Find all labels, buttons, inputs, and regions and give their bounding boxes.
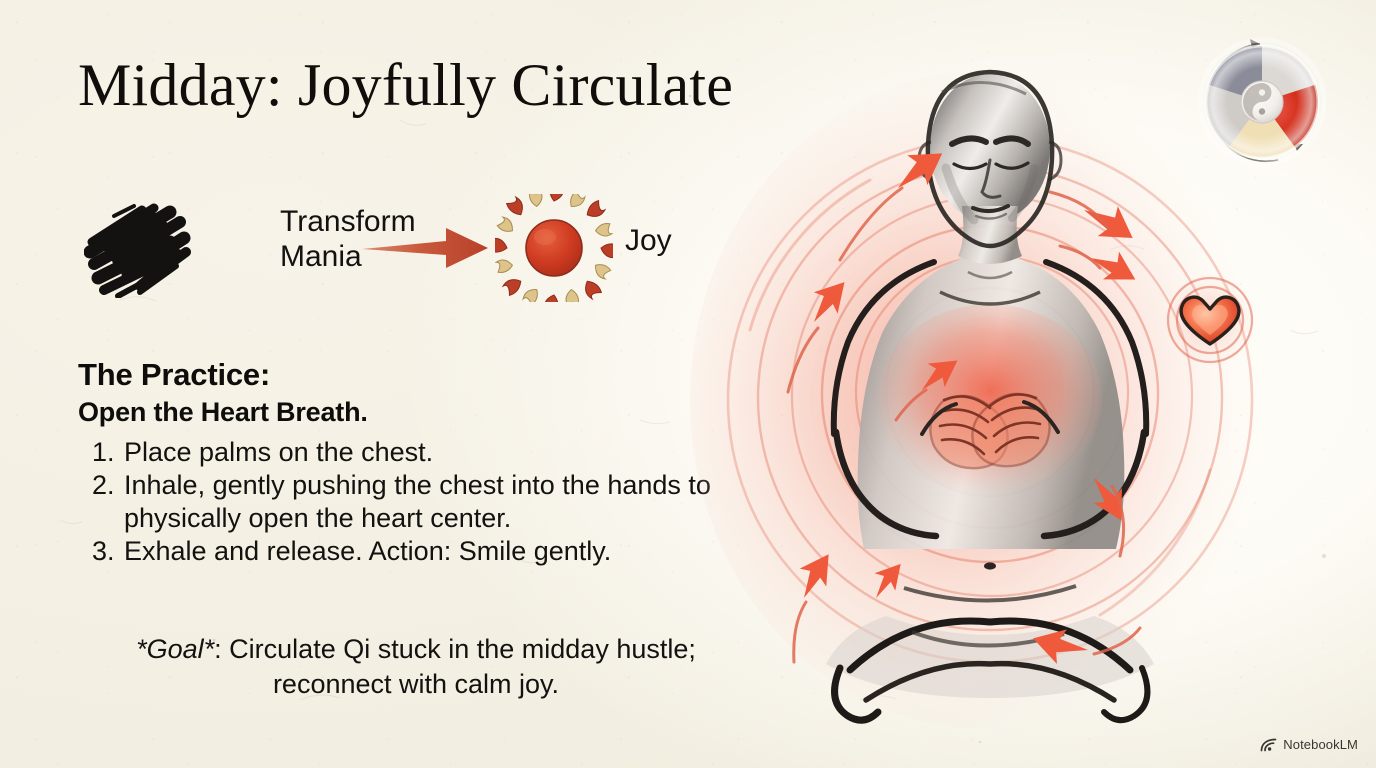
step-text: Place palms on the chest. [124,437,433,467]
heart-icon [1164,274,1256,366]
goal-body: Circulate Qi stuck in the midday hustle;… [229,634,696,699]
practice-step-list: 1. Place palms on the chest. 2. Inhale, … [78,436,728,568]
page-title: Midday: Joyfully Circulate [78,54,733,117]
transform-row: Transform Mania [80,192,740,304]
arrow-right-icon [360,222,505,274]
list-item: 3. Exhale and release. Action: Smile gen… [78,535,728,567]
practice-heading: The Practice: [78,358,728,393]
goal-text: *Goal*: Circulate Qi stuck in the midday… [76,632,756,701]
step-text: Inhale, gently pushing the chest into th… [124,470,711,532]
sun-icon [495,194,613,302]
practice-block: The Practice: Open the Heart Breath. 1. … [78,358,728,568]
goal-separator: : [214,634,229,664]
step-text: Exhale and release. Action: Smile gently… [124,536,611,566]
joy-label: Joy [625,224,672,258]
scribble-icon [84,198,192,298]
step-number: 2. [92,469,115,501]
list-item: 2. Inhale, gently pushing the chest into… [78,469,728,534]
list-item: 1. Place palms on the chest. [78,436,728,468]
step-number: 3. [92,535,115,567]
step-number: 1. [92,436,115,468]
watermark: NotebookLM [1260,737,1358,752]
slide-root: Midday: Joyfully Circulate Transform Man… [0,0,1376,768]
yin-yang-icon [1241,81,1283,123]
goal-label: *Goal* [136,634,214,664]
watermark-label: NotebookLM [1283,737,1358,752]
notebooklm-logo-icon [1260,738,1277,752]
five-phase-wheel[interactable] [1186,26,1338,178]
practice-subheading: Open the Heart Breath. [78,397,728,428]
